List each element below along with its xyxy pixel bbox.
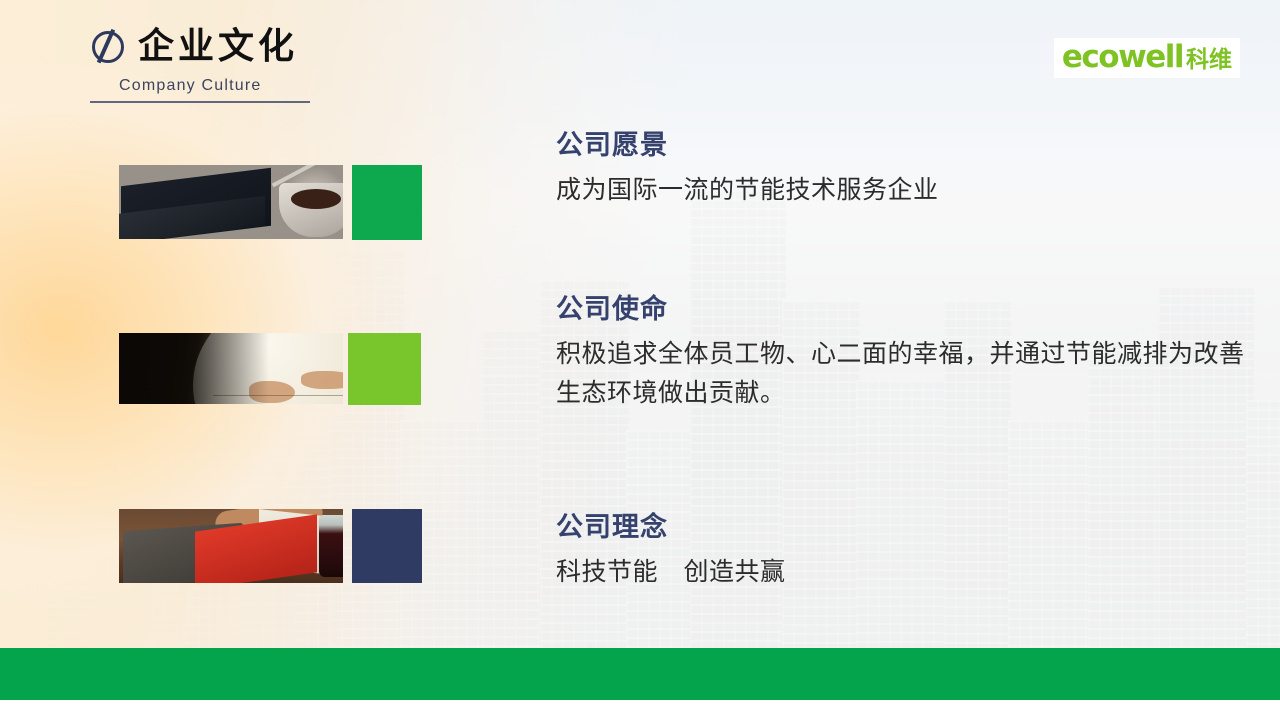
mission-block: 公司使命 积极追求全体员工物、心二面的幸福，并通过节能减排为改善生态环境做出贡献… <box>556 294 1256 413</box>
footer-green-bar <box>0 648 1280 700</box>
globe-photo <box>119 333 343 404</box>
footer-white-bar <box>0 700 1280 720</box>
ecowell-logo: ecowell 科维 <box>1054 38 1240 78</box>
philosophy-body: 科技节能 创造共赢 <box>556 553 1236 592</box>
notebook-and-coffee-photo <box>119 165 343 239</box>
mission-body: 积极追求全体员工物、心二面的幸福，并通过节能减排为改善生态环境做出贡献。 <box>556 335 1256 413</box>
vision-heading: 公司愿景 <box>556 130 1236 161</box>
philosophy-heading: 公司理念 <box>556 512 1236 543</box>
mission-heading: 公司使命 <box>556 294 1256 325</box>
page-title: 企业文化 <box>138 28 298 64</box>
page-subtitle: Company Culture <box>119 77 310 95</box>
philosophy-block: 公司理念 科技节能 创造共赢 <box>556 512 1236 592</box>
laptop-and-notebook-photo <box>119 509 343 583</box>
header-divider <box>90 101 310 103</box>
vision-block: 公司愿景 成为国际一流的节能技术服务企业 <box>556 130 1236 210</box>
slide-canvas: 企业文化 Company Culture ecowell 科维 <box>0 0 1280 720</box>
circle-slash-icon <box>90 29 124 63</box>
light-green-swatch <box>348 333 421 405</box>
vision-body: 成为国际一流的节能技术服务企业 <box>556 171 1236 210</box>
navy-swatch <box>352 509 422 583</box>
logo-text-en: ecowell <box>1062 42 1183 73</box>
page-title-row: 企业文化 <box>90 28 310 64</box>
slide-header: 企业文化 Company Culture <box>90 28 310 103</box>
logo-text-cn: 科维 <box>1186 48 1232 71</box>
green-swatch <box>352 165 422 240</box>
